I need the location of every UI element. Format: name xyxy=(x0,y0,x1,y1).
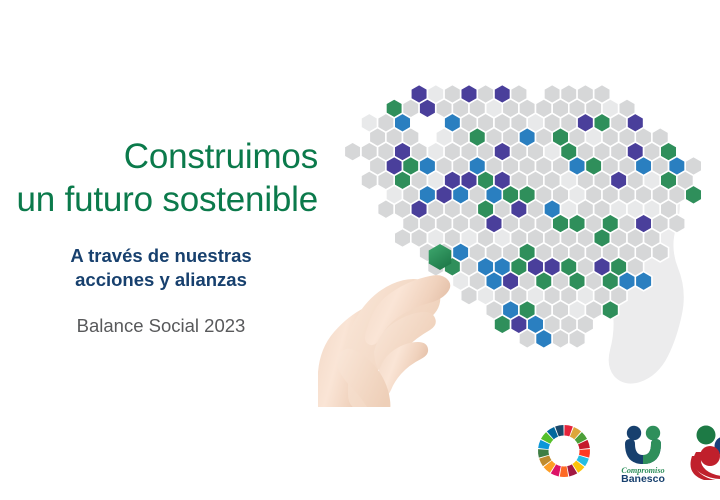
fe-y-alegria-logo xyxy=(688,422,720,480)
logo-bar: Compromiso Banesco xyxy=(530,422,720,494)
map-hex xyxy=(494,315,511,334)
logo-circle-red xyxy=(700,446,720,466)
cover-text-block: Construimos un futuro sostenible A travé… xyxy=(0,134,340,354)
map-hex xyxy=(569,329,586,348)
page-title: Construimos un futuro sostenible xyxy=(0,134,340,222)
compromiso-banesco-logo: Compromiso Banesco xyxy=(612,422,674,484)
banesco-figures-icon xyxy=(625,426,661,464)
headline-line-2: un futuro sostenible xyxy=(0,177,318,223)
map-hex xyxy=(602,300,619,319)
map-hex xyxy=(378,200,395,219)
page-subtitle: A través de nuestras acciones y alianzas xyxy=(0,244,340,293)
subtitle-line-2: acciones y alianzas xyxy=(0,268,322,292)
map-hex xyxy=(685,185,702,204)
map-hex xyxy=(344,142,361,161)
map-hex xyxy=(419,99,436,118)
map-hex xyxy=(652,243,669,262)
map-hex xyxy=(635,272,652,291)
map-hex xyxy=(669,214,686,233)
sdg-wheel-logo xyxy=(536,422,592,480)
map-hex xyxy=(552,329,569,348)
map-hex xyxy=(361,171,378,190)
subtitle-line-1: A través de nuestras xyxy=(0,244,322,268)
banesco-wordmark: Banesco xyxy=(621,473,665,484)
report-edition-label: Balance Social 2023 xyxy=(0,315,340,337)
held-hexagon xyxy=(429,244,452,270)
hand-placing-hexagon xyxy=(300,222,480,407)
logo-circle-green xyxy=(697,426,716,445)
sdg-segment xyxy=(560,466,568,477)
map-hex xyxy=(519,329,536,348)
headline-line-1: Construimos xyxy=(0,134,318,180)
map-hex xyxy=(535,329,552,348)
report-cover: Construimos un futuro sostenible A travé… xyxy=(0,0,720,500)
